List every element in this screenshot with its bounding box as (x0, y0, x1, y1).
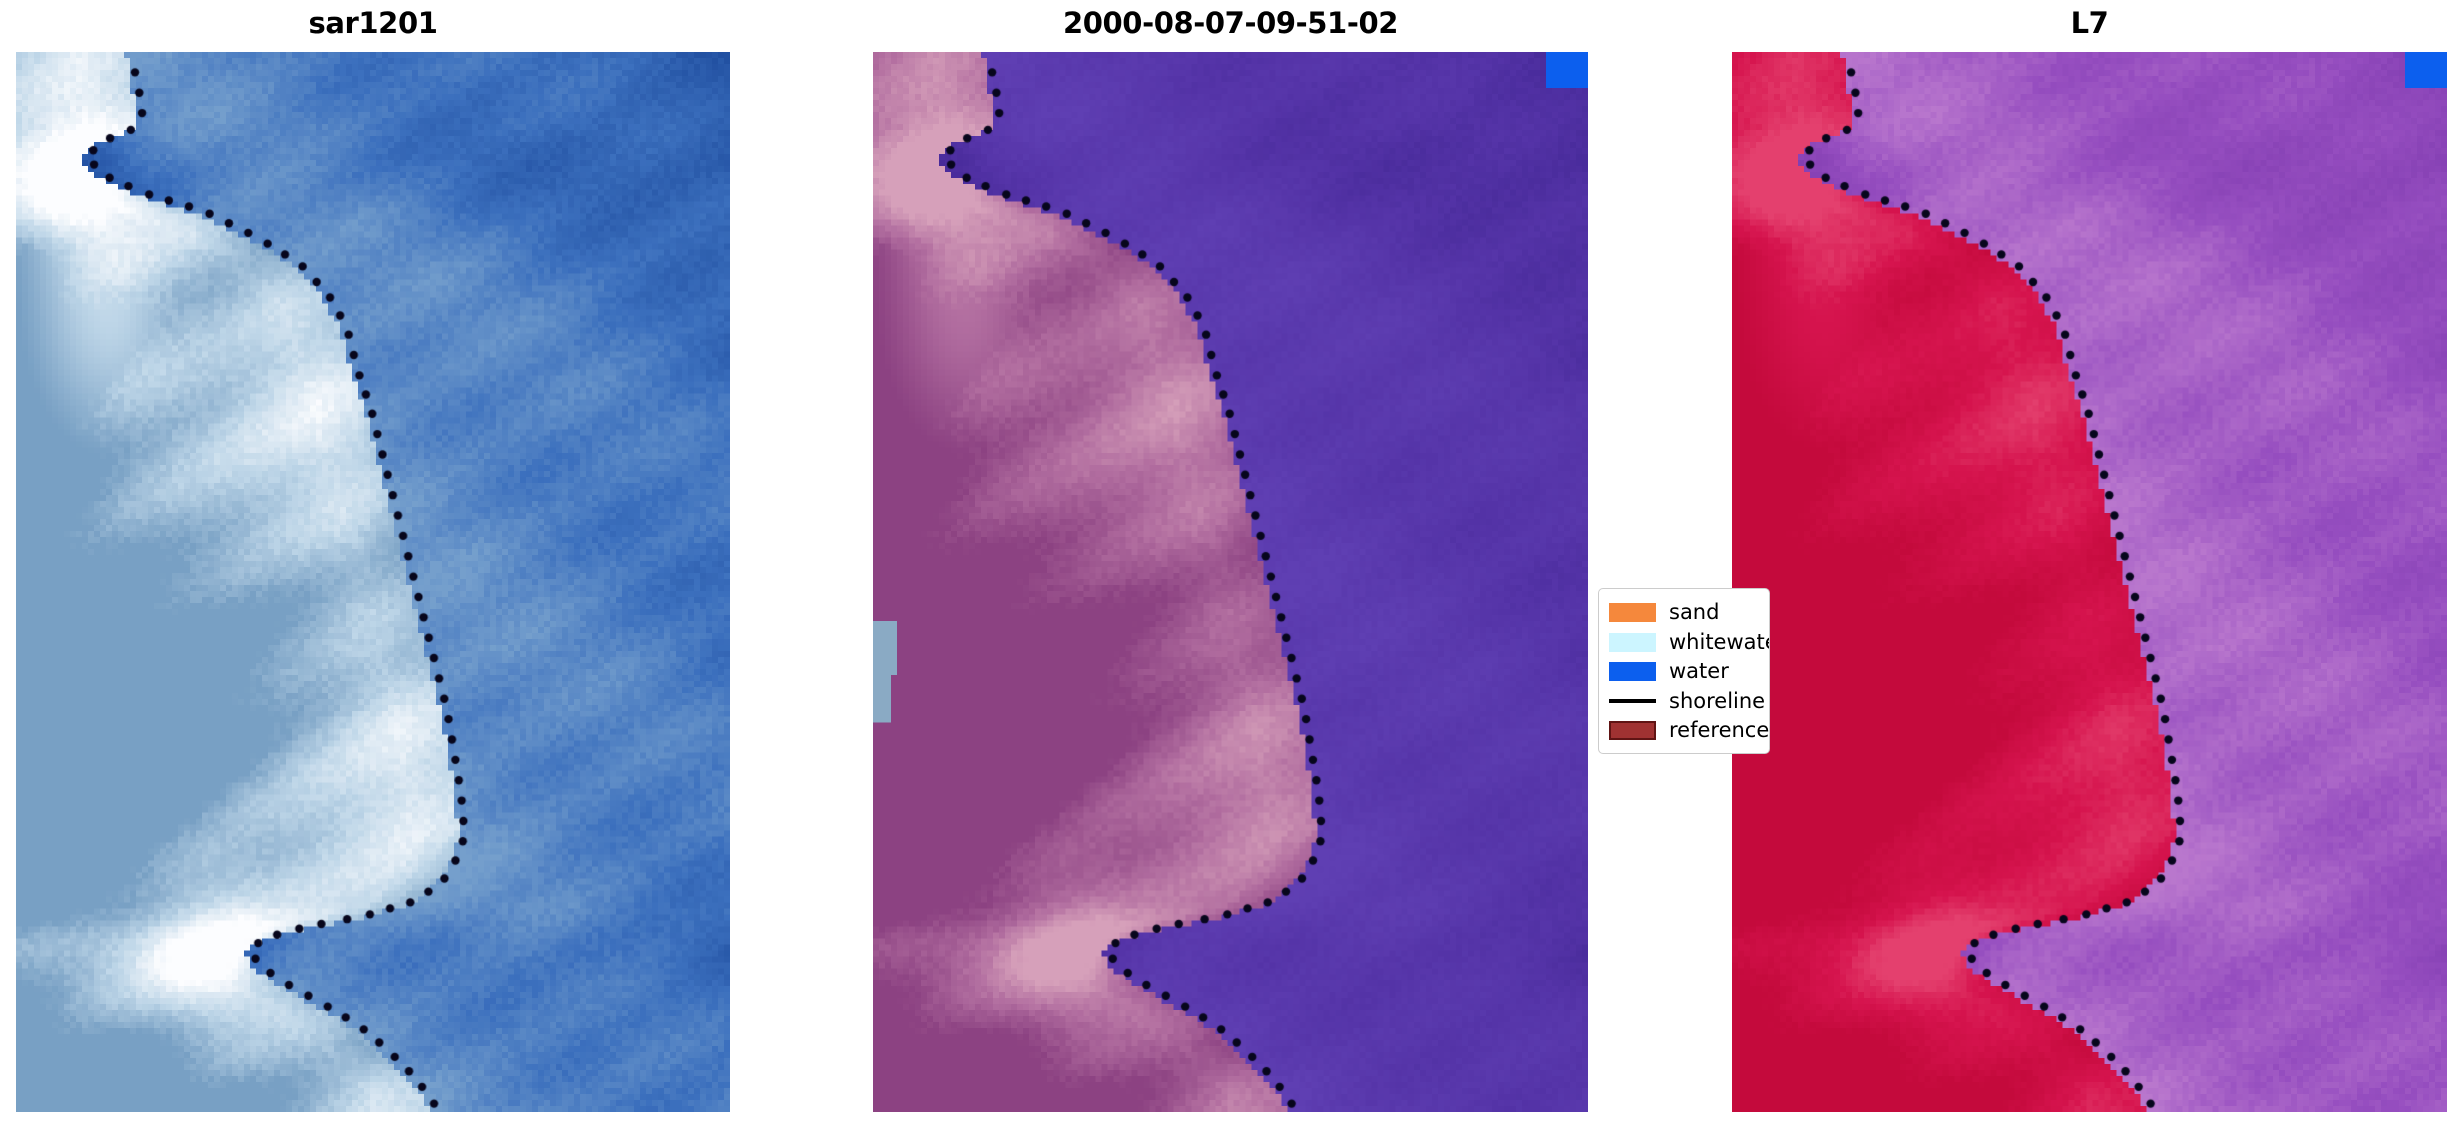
panel-title-l7: L7 (1732, 4, 2447, 42)
legend-label-sand: sand (1669, 602, 1719, 623)
legend-box: sand whitewater water shoreline referenc… (1598, 588, 1770, 754)
sand-swatch-icon (1609, 603, 1656, 622)
figure-canvas: sar1201 2000-08-07-09-51-02 L7 sand whit… (0, 0, 2460, 1130)
legend-item-sand: sand (1599, 598, 1769, 628)
reference-swatch-icon (1609, 721, 1656, 740)
panel-rgb-timestamp: 2000-08-07-09-51-02 (873, 0, 1588, 1130)
legend-item-water: water (1599, 657, 1769, 687)
legend-item-shoreline: shoreline (1599, 687, 1769, 717)
legend-item-reference: reference (1599, 716, 1769, 746)
panel-sar1201: sar1201 (16, 0, 730, 1130)
water-swatch-icon (1609, 662, 1656, 681)
panel-l7: L7 (1732, 0, 2447, 1130)
shoreline-overlay (16, 52, 730, 1112)
legend-label-shoreline: shoreline (1669, 691, 1765, 712)
legend-label-reference: reference (1669, 720, 1769, 741)
panel-title-sar1201: sar1201 (16, 4, 730, 42)
whitewater-swatch-icon (1609, 633, 1656, 652)
shoreline-line-icon (1609, 692, 1656, 711)
legend-label-whitewater: whitewater (1669, 632, 1770, 653)
shoreline-overlay (1732, 52, 2447, 1112)
legend-label-water: water (1669, 661, 1729, 682)
shoreline-overlay (873, 52, 1588, 1112)
legend-item-whitewater: whitewater (1599, 628, 1769, 658)
panel-title-timestamp: 2000-08-07-09-51-02 (873, 4, 1588, 42)
